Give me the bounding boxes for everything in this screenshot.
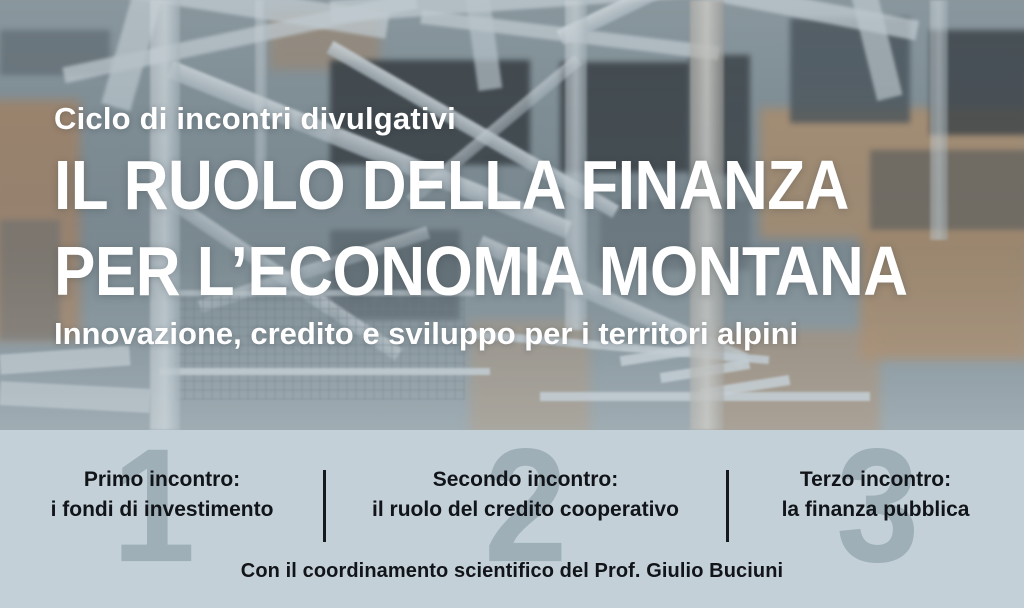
scientific-coordination-credit: Con il coordinamento scientifico del Pro…: [0, 560, 1024, 583]
meeting-3-subtitle: la finanza pubblica: [733, 495, 1018, 525]
poster-subtitle: Innovazione, credito e sviluppo per i te…: [54, 318, 798, 349]
poster-title-line-1: IL RUOLO DELLA FINANZA: [54, 152, 849, 221]
meeting-item-2[interactable]: Secondo incontro: il ruolo del credito c…: [324, 465, 727, 525]
poster-kicker: Ciclo di incontri divulgativi: [54, 103, 456, 134]
meetings-list: Primo incontro: i fondi di investimento …: [0, 430, 1024, 560]
event-poster: Ciclo di incontri divulgativi IL RUOLO D…: [0, 0, 1024, 608]
meeting-divider-2: [726, 470, 729, 542]
meeting-2-title: Secondo incontro:: [330, 465, 721, 495]
meeting-1-title: Primo incontro:: [6, 465, 318, 495]
meeting-divider-1: [323, 470, 326, 542]
poster-title-line-2: PER L’ECONOMIA MONTANA: [54, 238, 908, 307]
meeting-item-3[interactable]: Terzo incontro: la finanza pubblica: [727, 465, 1024, 525]
meeting-item-1[interactable]: Primo incontro: i fondi di investimento: [0, 465, 324, 525]
meeting-2-subtitle: il ruolo del credito cooperativo: [330, 495, 721, 525]
headline-block: Ciclo di incontri divulgativi IL RUOLO D…: [54, 0, 1014, 430]
meeting-3-title: Terzo incontro:: [733, 465, 1018, 495]
meeting-1-subtitle: i fondi di investimento: [6, 495, 318, 525]
